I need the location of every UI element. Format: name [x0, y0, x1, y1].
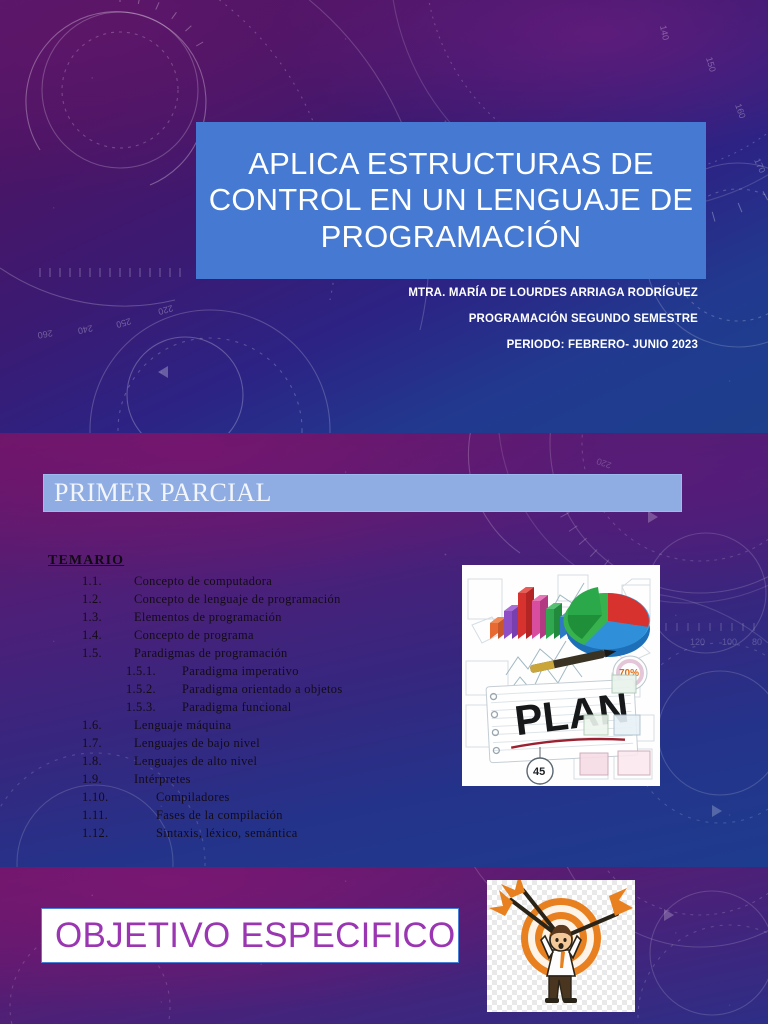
temario-item-number: 1.5.2.: [126, 683, 182, 695]
objetivo-especifico-box: OBJETIVO ESPECIFICO: [41, 908, 459, 963]
temario-item: 1.3.Elementos de programación: [48, 608, 468, 626]
subtitle-course: PROGRAMACIÓN SEGUNDO SEMESTRE: [238, 307, 698, 333]
temario-item: 1.1.Concepto de computadora: [48, 572, 468, 590]
temario-item-number: 1.5.3.: [126, 701, 182, 713]
temario-item-label: Intérpretes: [134, 773, 191, 785]
temario-item: 1.7.Lenguajes de bajo nivel: [48, 734, 468, 752]
temario-item-number: 1.1.: [82, 575, 134, 587]
temario-item: 1.2.Concepto de lenguaje de programación: [48, 590, 468, 608]
temario-item-label: Lenguaje máquina: [134, 719, 231, 731]
temario-item: 1.8.Lenguajes de alto nivel: [48, 752, 468, 770]
temario-item-number: 1.4.: [82, 629, 134, 641]
temario-item: 1.11.Fases de la compilación: [48, 806, 468, 824]
temario-item-label: Paradigma orientado a objetos: [182, 683, 343, 695]
temario-item-label: Fases de la compilación: [156, 809, 283, 821]
slide-subtitle-block: MTRA. MARÍA DE LOURDES ARRIAGA RODRÍGUEZ…: [238, 281, 698, 359]
temario-item: 1.5.1.Paradigma imperativo: [48, 662, 468, 680]
temario-item-label: Paradigmas de programación: [134, 647, 288, 659]
temario-item-label: Paradigma funcional: [182, 701, 292, 713]
temario-heading: TEMARIO: [48, 553, 124, 569]
temario-item-number: 1.2.: [82, 593, 134, 605]
section-banner-label: PRIMER PARCIAL: [44, 478, 272, 508]
temario-item-label: Lenguajes de bajo nivel: [134, 737, 260, 749]
temario-item-label: Sintaxis, léxico, semántica: [156, 827, 298, 839]
temario-item: 1.9.Intérpretes: [48, 770, 468, 788]
temario-item-number: 1.11.: [82, 809, 156, 821]
slide-1: 140 150 160 170 220 250 240 260 APLICA E…: [0, 0, 768, 433]
plan-collage-image: 70%: [462, 565, 660, 786]
temario-item-label: Compiladores: [156, 791, 230, 803]
temario-item: 1.10.Compiladores: [48, 788, 468, 806]
temario-item-label: Elementos de programación: [134, 611, 282, 623]
temario-item-number: 1.7.: [82, 737, 134, 749]
temario-list: 1.1.Concepto de computadora1.2.Concepto …: [48, 572, 468, 842]
slide-title: APLICA ESTRUCTURAS DE CONTROL EN UN LENG…: [196, 146, 706, 256]
temario-item-label: Concepto de computadora: [134, 575, 272, 587]
target-illustration-image: [487, 880, 635, 1012]
temario-item-label: Lenguajes de alto nivel: [134, 755, 257, 767]
temario-item-number: 1.5.1.: [126, 665, 182, 677]
temario-item: 1.4.Concepto de programa: [48, 626, 468, 644]
slides-document: 140 150 160 170 220 250 240 260 APLICA E…: [0, 0, 768, 1024]
temario-item-number: 1.5.: [82, 647, 134, 659]
subtitle-period: PERIODO: FEBRERO- JUNIO 2023: [238, 333, 698, 359]
temario-item: 1.5.2.Paradigma orientado a objetos: [48, 680, 468, 698]
temario-item-number: 1.8.: [82, 755, 134, 767]
temario-item-label: Paradigma imperativo: [182, 665, 299, 677]
temario-item: 1.5.3.Paradigma funcional: [48, 698, 468, 716]
plan-image-45-label: 45: [533, 766, 545, 778]
temario-item-number: 1.6.: [82, 719, 134, 731]
slide-title-box: APLICA ESTRUCTURAS DE CONTROL EN UN LENG…: [196, 122, 706, 279]
section-banner-primer-parcial: PRIMER PARCIAL: [43, 474, 682, 512]
temario-item-label: Concepto de lenguaje de programación: [134, 593, 341, 605]
objetivo-especifico-heading: OBJETIVO ESPECIFICO: [42, 916, 456, 956]
temario-item-number: 1.10.: [82, 791, 156, 803]
temario-item-number: 1.9.: [82, 773, 134, 785]
temario-item-number: 1.12.: [82, 827, 156, 839]
temario-item-label: Concepto de programa: [134, 629, 254, 641]
temario-item-number: 1.3.: [82, 611, 134, 623]
temario-item: 1.12.Sintaxis, léxico, semántica: [48, 824, 468, 842]
temario-item: 1.5.Paradigmas de programación: [48, 644, 468, 662]
subtitle-instructor: MTRA. MARÍA DE LOURDES ARRIAGA RODRÍGUEZ: [238, 281, 698, 307]
temario-item: 1.6.Lenguaje máquina: [48, 716, 468, 734]
